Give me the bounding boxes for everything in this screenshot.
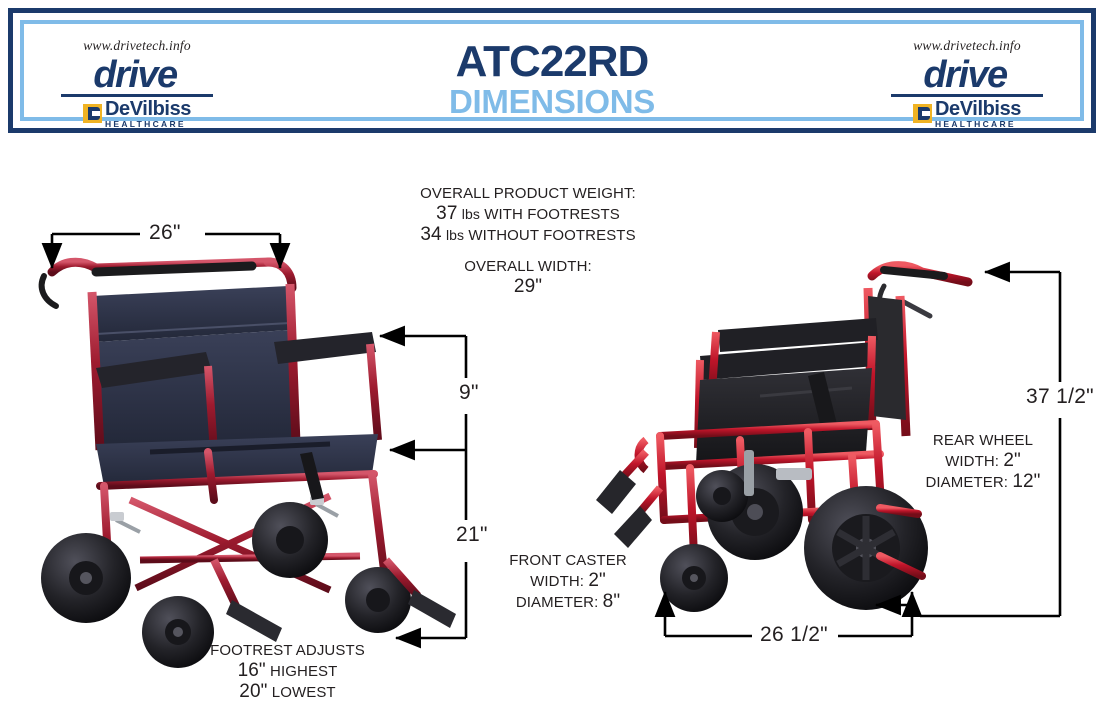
spec-rear-wheel-block: REAR WHEEL WIDTH: 2" DIAMETER: 12" [888, 431, 1078, 493]
front-caster-width-label: WIDTH: [530, 573, 584, 590]
weight-with-unit: lbs [462, 206, 480, 222]
spec-weight-without-footrests: 34 lbs WITHOUT FOOTRESTS [378, 225, 678, 246]
dimension-sheet: www.drivetech.info drive DeVilbiss HEALT… [0, 0, 1104, 707]
spec-rear-wheel-title: REAR WHEEL [888, 431, 1078, 451]
footrest-lowest-value: 20" [239, 681, 267, 702]
spec-footrest-lowest: 20" LOWEST [190, 682, 385, 703]
weight-with-value: 37 [436, 203, 457, 224]
rear-wheel-diameter-value: 12" [1012, 471, 1040, 492]
footrest-highest-label: HIGHEST [270, 663, 337, 680]
footrest-highest-value: 16" [238, 660, 266, 681]
dimension-label-overall-depth: 26 1/2" [756, 623, 832, 647]
spec-weight-with-footrests: 37 lbs WITH FOOTRESTS [378, 204, 678, 225]
spec-footrest-highest: 16" HIGHEST [190, 661, 385, 682]
spec-rear-wheel-width: WIDTH: 2" [888, 451, 1078, 472]
spec-overall-width-title: OVERALL WIDTH: [428, 257, 628, 277]
spec-footrest-block: FOOTREST ADJUSTS 16" HIGHEST 20" LOWEST [190, 641, 385, 703]
spec-weight-title: OVERALL PRODUCT WEIGHT: [378, 184, 678, 204]
spec-overall-width-block: OVERALL WIDTH: 29" [428, 257, 628, 297]
spec-front-caster-width: WIDTH: 2" [478, 571, 658, 592]
wheelchair-front-view [41, 262, 456, 668]
dimension-label-seat-height: 21" [452, 523, 492, 547]
spec-footrest-title: FOOTREST ADJUSTS [190, 641, 385, 661]
dimension-armrest-height [380, 336, 466, 450]
weight-without-label: WITHOUT FOOTRESTS [468, 227, 635, 244]
spec-front-caster-block: FRONT CASTER WIDTH: 2" DIAMETER: 8" [478, 551, 658, 613]
spec-overall-width-value: 29" [428, 277, 628, 297]
rear-wheel-diameter-label: DIAMETER: [925, 474, 1008, 491]
weight-with-label: WITH FOOTRESTS [484, 206, 620, 223]
front-caster-diameter-value: 8" [603, 591, 621, 612]
weight-without-unit: lbs [446, 227, 464, 243]
front-caster-diameter-label: DIAMETER: [516, 594, 599, 611]
front-caster-width-value: 2" [588, 570, 606, 591]
spec-rear-wheel-diameter: DIAMETER: 12" [888, 472, 1078, 493]
spec-weight-block: OVERALL PRODUCT WEIGHT: 37 lbs WITH FOOT… [378, 184, 678, 246]
dimension-label-handle-width: 26" [145, 221, 185, 245]
weight-without-value: 34 [420, 224, 441, 245]
footrest-lowest-label: LOWEST [272, 684, 336, 701]
dimension-label-overall-height: 37 1/2" [1022, 385, 1098, 409]
spec-front-caster-title: FRONT CASTER [478, 551, 658, 571]
rear-wheel-width-value: 2" [1003, 450, 1021, 471]
dimension-label-armrest-height: 9" [455, 381, 483, 405]
spec-front-caster-diameter: DIAMETER: 8" [478, 592, 658, 613]
rear-wheel-width-label: WIDTH: [945, 453, 999, 470]
